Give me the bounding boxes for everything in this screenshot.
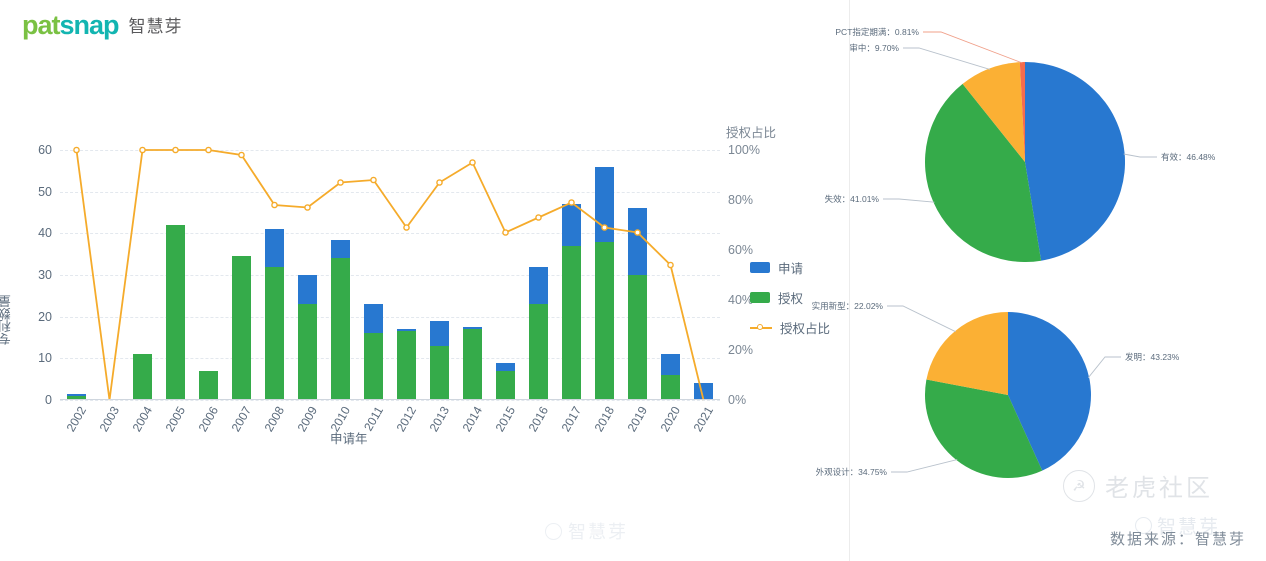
y-axis-title-left: 专利数量 bbox=[0, 295, 15, 345]
y-tick-label: 20 bbox=[38, 310, 52, 324]
x-tick-label: 2007 bbox=[228, 404, 253, 434]
x-label-slot: 2008 bbox=[258, 400, 291, 460]
x-label-slot: 2019 bbox=[621, 400, 654, 460]
pie-leader bbox=[1124, 154, 1157, 157]
ratio-point[interactable] bbox=[503, 230, 508, 235]
pie-leader bbox=[923, 32, 1022, 63]
patent-trend-chart: 专利数量 授权占比 申请年 0102030405060 0%20%40%60%8… bbox=[0, 110, 850, 440]
logo-word-snap: snap bbox=[60, 10, 119, 40]
x-label-slot: 2005 bbox=[159, 400, 192, 460]
x-label-slot: 2020 bbox=[654, 400, 687, 460]
x-tick-label: 2008 bbox=[261, 404, 286, 434]
x-tick-label: 2003 bbox=[96, 404, 121, 434]
patsnap-logo: patsnap 智慧芽 bbox=[22, 12, 183, 39]
ratio-point[interactable] bbox=[173, 147, 178, 152]
pie-label-PCT指定期满: PCT指定期满：0.81% bbox=[835, 26, 919, 38]
legend-item-授权占比[interactable]: 授权占比 bbox=[750, 318, 830, 337]
x-label-slot: 2002 bbox=[60, 400, 93, 460]
tiger-icon: ☭ bbox=[1063, 470, 1095, 502]
legend-label: 授权占比 bbox=[780, 318, 830, 337]
x-label-slot: 2016 bbox=[522, 400, 555, 460]
x-tick-label: 2014 bbox=[459, 404, 484, 434]
x-label-slot: 2004 bbox=[126, 400, 159, 460]
patent-type-pie: 发明：43.23%外观设计：34.75%实用新型：22.02% bbox=[925, 312, 1091, 478]
x-tick-label: 2004 bbox=[129, 404, 154, 434]
ratio-point[interactable] bbox=[140, 147, 145, 152]
x-tick-label: 2012 bbox=[393, 404, 418, 434]
pie-label-外观设计: 外观设计：34.75% bbox=[816, 466, 887, 478]
ratio-line bbox=[77, 150, 704, 400]
x-tick-label: 2019 bbox=[624, 404, 649, 434]
ratio-point[interactable] bbox=[569, 200, 574, 205]
y2-tick-label: 100% bbox=[728, 143, 760, 157]
ratio-point[interactable] bbox=[668, 262, 673, 267]
y-tick-label: 40 bbox=[38, 226, 52, 240]
x-label-slot: 2012 bbox=[390, 400, 423, 460]
watermark-community: ☭ 老虎社区 bbox=[1063, 468, 1213, 503]
ratio-point[interactable] bbox=[602, 225, 607, 230]
legal-status-pie: 有效：46.48%失效：41.01%审中：9.70%PCT指定期满：0.81% bbox=[925, 62, 1125, 262]
watermark-ring-icon bbox=[545, 523, 562, 540]
chart-legend: 申请授权授权占比 bbox=[750, 258, 830, 337]
x-label-slot: 2015 bbox=[489, 400, 522, 460]
pie-label-有效: 有效：46.48% bbox=[1161, 151, 1215, 163]
ratio-point[interactable] bbox=[470, 160, 475, 165]
pie-slice-有效[interactable] bbox=[1025, 62, 1125, 261]
x-tick-label: 2020 bbox=[657, 404, 682, 434]
y-axis-title-right: 授权占比 bbox=[726, 122, 776, 141]
x-tick-label: 2013 bbox=[426, 404, 451, 434]
x-label-slot: 2011 bbox=[357, 400, 390, 460]
x-label-slot: 2014 bbox=[456, 400, 489, 460]
x-tick-label: 2006 bbox=[195, 404, 220, 434]
y-tick-label: 50 bbox=[38, 185, 52, 199]
ratio-point[interactable] bbox=[206, 147, 211, 152]
legend-item-申请[interactable]: 申请 bbox=[750, 258, 830, 277]
x-axis-labels: 2002200320042005200620072008200920102011… bbox=[60, 400, 720, 460]
pie-label-发明: 发明：43.23% bbox=[1125, 351, 1179, 363]
logo-chinese-name: 智慧芽 bbox=[129, 18, 183, 39]
pie-label-审中: 审中：9.70% bbox=[849, 42, 899, 54]
y-tick-label: 0 bbox=[45, 393, 52, 407]
legend-label: 授权 bbox=[778, 288, 803, 307]
x-tick-label: 2017 bbox=[558, 404, 583, 434]
ratio-point[interactable] bbox=[305, 205, 310, 210]
y2-tick-label: 0% bbox=[728, 393, 746, 407]
ratio-point[interactable] bbox=[239, 152, 244, 157]
watermark-community-text: 老虎社区 bbox=[1105, 468, 1213, 503]
y-tick-label: 60 bbox=[38, 143, 52, 157]
y-tick-label: 30 bbox=[38, 268, 52, 282]
x-label-slot: 2021 bbox=[687, 400, 720, 460]
legend-swatch-icon bbox=[750, 292, 770, 303]
dashboard-page: patsnap 智慧芽 专利数量 授权占比 申请年 0102030405060 … bbox=[0, 0, 1266, 561]
x-tick-label: 2009 bbox=[294, 404, 319, 434]
x-tick-label: 2011 bbox=[361, 404, 386, 433]
x-tick-label: 2010 bbox=[327, 404, 352, 434]
pie-svg bbox=[925, 312, 1091, 478]
ratio-point[interactable] bbox=[404, 225, 409, 230]
pie-leader bbox=[1088, 357, 1121, 378]
data-source-note: 数据来源：智慧芽 bbox=[1110, 528, 1246, 549]
x-tick-label: 2005 bbox=[162, 404, 187, 434]
pie-label-实用新型: 实用新型：22.02% bbox=[812, 300, 883, 312]
logo-wordmark: patsnap bbox=[22, 12, 119, 39]
x-label-slot: 2007 bbox=[225, 400, 258, 460]
ratio-line-series bbox=[60, 150, 720, 400]
ratio-point[interactable] bbox=[536, 215, 541, 220]
ratio-point[interactable] bbox=[437, 180, 442, 185]
watermark-zhihuiya-center: 智慧芽 bbox=[545, 518, 628, 544]
x-tick-label: 2015 bbox=[492, 404, 517, 434]
legend-swatch-icon bbox=[750, 262, 770, 273]
legend-line-icon bbox=[750, 322, 772, 333]
logo-word-pat: pat bbox=[22, 10, 60, 40]
y-tick-label: 10 bbox=[38, 351, 52, 365]
x-tick-label: 2016 bbox=[525, 404, 550, 434]
ratio-point[interactable] bbox=[74, 147, 79, 152]
ratio-point[interactable] bbox=[272, 202, 277, 207]
ratio-point[interactable] bbox=[635, 230, 640, 235]
pie-svg bbox=[925, 62, 1125, 262]
y2-tick-label: 60% bbox=[728, 243, 753, 257]
x-tick-label: 2018 bbox=[591, 404, 616, 434]
y2-tick-label: 80% bbox=[728, 193, 753, 207]
legend-label: 申请 bbox=[778, 258, 803, 277]
x-label-slot: 2013 bbox=[423, 400, 456, 460]
pie-label-失效: 失效：41.01% bbox=[825, 193, 879, 205]
x-label-slot: 2017 bbox=[555, 400, 588, 460]
x-label-slot: 2009 bbox=[291, 400, 324, 460]
x-tick-label: 2021 bbox=[690, 404, 715, 434]
watermark-zhihuiya-text: 智慧芽 bbox=[568, 518, 628, 544]
plot-area: 0102030405060 0%20%40%60%80%100% bbox=[60, 150, 720, 400]
x-tick-label: 2002 bbox=[63, 404, 88, 434]
ratio-point[interactable] bbox=[338, 180, 343, 185]
ratio-point[interactable] bbox=[371, 177, 376, 182]
x-label-slot: 2003 bbox=[93, 400, 126, 460]
x-label-slot: 2006 bbox=[192, 400, 225, 460]
x-label-slot: 2018 bbox=[588, 400, 621, 460]
x-label-slot: 2010 bbox=[324, 400, 357, 460]
y2-tick-label: 20% bbox=[728, 343, 753, 357]
